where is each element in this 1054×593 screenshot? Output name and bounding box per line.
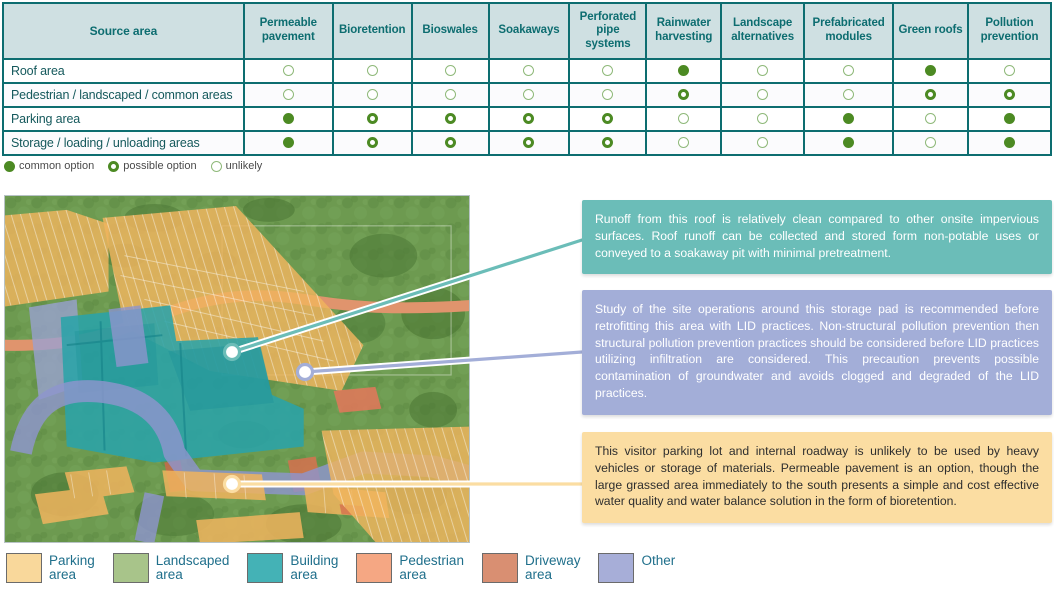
common-marker-icon — [925, 65, 936, 76]
area-legend-item: Other — [598, 553, 675, 583]
matrix-cell-common — [804, 107, 893, 131]
unlikely-marker-icon — [757, 137, 768, 148]
table-row: Storage / loading / unloading areas — [3, 131, 1051, 155]
callout-roof-runoff: Runoff from this roof is relatively clea… — [582, 200, 1052, 274]
matrix-cell-possible — [893, 83, 968, 107]
matrix-cell-unlikely — [721, 131, 804, 155]
unlikely-marker-icon — [211, 161, 222, 172]
matrix-cell-possible — [412, 107, 489, 131]
matrix-cell-possible — [489, 131, 570, 155]
site-aerial-map — [4, 195, 470, 543]
possible-marker-icon — [678, 89, 689, 100]
unlikely-marker-icon — [283, 89, 294, 100]
aerial-map-graphic — [5, 196, 469, 542]
matrix-cell-possible — [968, 83, 1051, 107]
common-marker-icon — [283, 137, 294, 148]
matrix-cell-unlikely — [333, 83, 412, 107]
unlikely-marker-icon — [678, 137, 689, 148]
table-row: Roof area — [3, 59, 1051, 83]
row-label: Storage / loading / unloading areas — [3, 131, 244, 155]
possible-marker-icon — [925, 89, 936, 100]
possible-marker-icon — [523, 113, 534, 124]
symbol-legend-item-unlikely: unlikely — [211, 160, 263, 172]
column-header-green-roofs: Green roofs — [893, 3, 968, 59]
table-header-row: Source area Permeable pavement Bioretent… — [3, 3, 1051, 59]
matrix-cell-unlikely — [721, 107, 804, 131]
symbol-legend-item-common: common option — [4, 160, 94, 172]
row-label: Pedestrian / landscaped / common areas — [3, 83, 244, 107]
area-legend-swatch — [247, 553, 283, 583]
area-legend-label: Other — [641, 553, 675, 568]
area-legend-item: Parking area — [6, 553, 95, 583]
matrix-cell-possible — [333, 131, 412, 155]
unlikely-marker-icon — [445, 65, 456, 76]
area-legend-label: Pedestrian area — [399, 553, 464, 583]
callout-visitor-parking: This visitor parking lot and internal ro… — [582, 432, 1052, 523]
matrix-cell-possible — [646, 83, 721, 107]
matrix-cell-common — [646, 59, 721, 83]
matrix-cell-unlikely — [569, 83, 646, 107]
unlikely-marker-icon — [602, 65, 613, 76]
column-header-pollution-prevention: Pollution prevention — [968, 3, 1051, 59]
possible-marker-icon — [367, 113, 378, 124]
matrix-cell-unlikely — [569, 59, 646, 83]
unlikely-marker-icon — [757, 113, 768, 124]
unlikely-marker-icon — [843, 65, 854, 76]
column-header-perforated-pipe-systems: Perforated pipe systems — [569, 3, 646, 59]
unlikely-marker-icon — [757, 65, 768, 76]
table-row: Pedestrian / landscaped / common areas — [3, 83, 1051, 107]
matrix-cell-possible — [412, 131, 489, 155]
table-row: Parking area — [3, 107, 1051, 131]
column-header-soakaways: Soakaways — [489, 3, 570, 59]
matrix-cell-unlikely — [489, 59, 570, 83]
matrix-cell-possible — [569, 131, 646, 155]
row-label: Roof area — [3, 59, 244, 83]
unlikely-marker-icon — [757, 89, 768, 100]
matrix-cell-common — [968, 107, 1051, 131]
column-header-bioswales: Bioswales — [412, 3, 489, 59]
matrix-cell-unlikely — [893, 131, 968, 155]
possible-marker-icon — [602, 137, 613, 148]
area-legend-item: Pedestrian area — [356, 553, 464, 583]
matrix-cell-unlikely — [721, 59, 804, 83]
matrix-cell-possible — [569, 107, 646, 131]
symbol-legend-label: unlikely — [226, 160, 263, 172]
unlikely-marker-icon — [445, 89, 456, 100]
area-legend-item: Driveway area — [482, 553, 581, 583]
map-pedestrian-pad-east — [334, 387, 382, 413]
symbol-legend-label: common option — [19, 160, 94, 172]
common-marker-icon — [283, 113, 294, 124]
symbol-legend-item-possible: possible option — [108, 160, 196, 172]
common-marker-icon — [4, 161, 15, 172]
matrix-cell-unlikely — [244, 59, 333, 83]
possible-marker-icon — [602, 113, 613, 124]
area-legend-swatch — [598, 553, 634, 583]
common-marker-icon — [843, 113, 854, 124]
possible-marker-icon — [1004, 89, 1015, 100]
area-legend-label: Landscaped area — [156, 553, 230, 583]
unlikely-marker-icon — [925, 113, 936, 124]
possible-marker-icon — [367, 137, 378, 148]
unlikely-marker-icon — [1004, 65, 1015, 76]
matrix-cell-unlikely — [721, 83, 804, 107]
area-legend-label: Driveway area — [525, 553, 581, 583]
matrix-cell-common — [244, 131, 333, 155]
area-legend-label: Building area — [290, 553, 338, 583]
unlikely-marker-icon — [367, 89, 378, 100]
source-area-lid-matrix: Source area Permeable pavement Bioretent… — [2, 2, 1052, 156]
table-body: Roof areaPedestrian / landscaped / commo… — [3, 59, 1051, 155]
unlikely-marker-icon — [523, 89, 534, 100]
matrix-cell-unlikely — [412, 59, 489, 83]
callout-storage-pad: Study of the site operations around this… — [582, 290, 1052, 415]
area-legend-swatch — [113, 553, 149, 583]
matrix-cell-unlikely — [646, 107, 721, 131]
matrix-cell-unlikely — [244, 83, 333, 107]
possible-marker-icon — [523, 137, 534, 148]
area-legend-label: Parking area — [49, 553, 95, 583]
matrix-cell-unlikely — [804, 83, 893, 107]
area-legend-swatch — [482, 553, 518, 583]
matrix-cell-possible — [333, 107, 412, 131]
unlikely-marker-icon — [602, 89, 613, 100]
column-header-landscape-alternatives: Landscape alternatives — [721, 3, 804, 59]
area-legend-swatch — [6, 553, 42, 583]
matrix-cell-common — [968, 131, 1051, 155]
column-header-permeable-pavement: Permeable pavement — [244, 3, 333, 59]
symbol-legend-label: possible option — [123, 160, 196, 172]
area-legend-item: Landscaped area — [113, 553, 230, 583]
matrix-cell-unlikely — [646, 131, 721, 155]
matrix-cell-common — [804, 131, 893, 155]
matrix-cell-unlikely — [968, 59, 1051, 83]
possible-marker-icon — [445, 113, 456, 124]
unlikely-marker-icon — [678, 113, 689, 124]
unlikely-marker-icon — [925, 137, 936, 148]
unlikely-marker-icon — [367, 65, 378, 76]
unlikely-marker-icon — [283, 65, 294, 76]
matrix-cell-unlikely — [412, 83, 489, 107]
matrix-cell-unlikely — [489, 83, 570, 107]
unlikely-marker-icon — [843, 89, 854, 100]
common-marker-icon — [678, 65, 689, 76]
matrix-cell-common — [244, 107, 333, 131]
column-header-bioretention: Bioretention — [333, 3, 412, 59]
common-marker-icon — [843, 137, 854, 148]
matrix-cell-unlikely — [893, 107, 968, 131]
matrix-cell-unlikely — [804, 59, 893, 83]
row-label: Parking area — [3, 107, 244, 131]
column-header-rainwater-harvesting: Rainwater harvesting — [646, 3, 721, 59]
possible-marker-icon — [445, 137, 456, 148]
column-header-source-area: Source area — [3, 3, 244, 59]
area-legend-swatch — [356, 553, 392, 583]
matrix-cell-unlikely — [333, 59, 412, 83]
symbol-legend: common optionpossible optionunlikely — [4, 160, 270, 172]
column-header-prefabricated-modules: Prefabricated modules — [804, 3, 893, 59]
common-marker-icon — [1004, 137, 1015, 148]
matrix-cell-possible — [489, 107, 570, 131]
area-legend-item: Building area — [247, 553, 338, 583]
unlikely-marker-icon — [523, 65, 534, 76]
area-type-legend: Parking areaLandscaped areaBuilding area… — [6, 553, 693, 583]
common-marker-icon — [1004, 113, 1015, 124]
possible-marker-icon — [108, 161, 119, 172]
matrix-cell-common — [893, 59, 968, 83]
lid-source-area-matrix-page: Source area Permeable pavement Bioretent… — [0, 0, 1054, 593]
